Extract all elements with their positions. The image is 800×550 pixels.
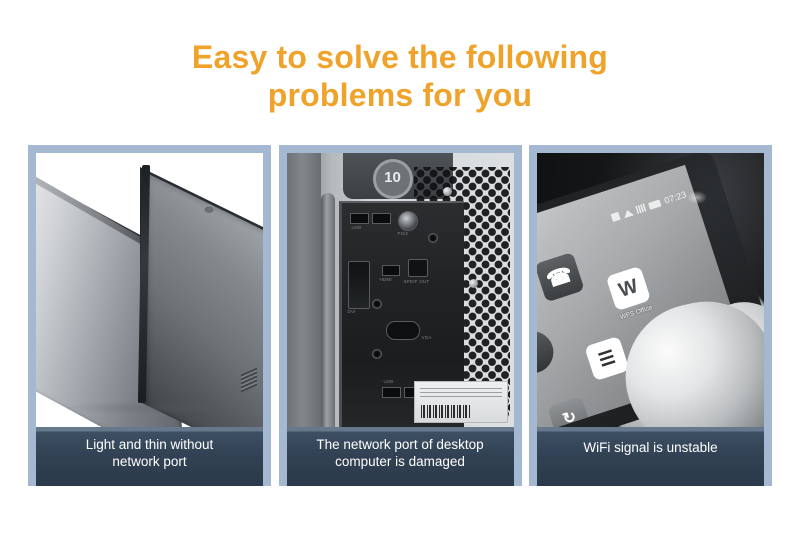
dvi-port-icon	[348, 261, 370, 309]
usb-port-label: USB	[352, 225, 362, 230]
ps2-port-label: PS/2	[398, 231, 409, 236]
card-caption-wifi: WiFi signal is unstable	[537, 427, 764, 486]
problem-card-desktop[interactable]: 10 USB PS/2 DVI HDMI SPDIF	[279, 145, 522, 486]
chassis-handle-rail	[321, 193, 335, 427]
status-bar-clock: 07:23	[663, 189, 688, 205]
hdmi-port-icon	[382, 265, 400, 276]
barcode-icon	[421, 405, 471, 418]
audio-jack-icon	[428, 233, 438, 243]
spdif-port-label: SPDIF OUT	[404, 279, 430, 284]
chassis-badge: 10	[373, 159, 413, 199]
signal-bars-icon	[636, 203, 647, 213]
desktop-photo: 10 USB PS/2 DVI HDMI SPDIF	[287, 153, 514, 427]
usb-port-icon	[372, 213, 391, 224]
app-icon-qq[interactable]: ☰	[584, 336, 629, 381]
wifi-icon	[623, 208, 635, 218]
hdmi-port-label: HDMI	[380, 277, 392, 282]
app-icon-wps-office[interactable]: W	[606, 266, 651, 311]
promo-banner: Easy to solve the following problems for…	[0, 0, 800, 550]
dvi-port-label: DVI	[348, 309, 356, 314]
app-icon-phone[interactable]: ☎	[537, 252, 585, 302]
chassis-screw	[469, 279, 478, 288]
laptop-drop-shadow	[62, 401, 242, 415]
vga-port-icon	[386, 321, 420, 340]
audio-jack-icon	[372, 299, 382, 309]
page-title-line-1: Easy to solve the following	[0, 38, 800, 76]
caption-line-1: Light and thin without	[46, 436, 253, 453]
problem-cards-row: Light and thin without network port 10 U…	[28, 145, 772, 486]
app-icon-wifi[interactable]: ◔	[537, 326, 559, 379]
caption-line-1: The network port of desktop	[297, 436, 504, 453]
laptop-camera-icon	[204, 205, 214, 213]
chassis-label-sticker	[414, 381, 508, 423]
caption-line-2: computer is damaged	[297, 453, 504, 470]
card-caption-desktop: The network port of desktop computer is …	[287, 427, 514, 486]
caption-line-1: WiFi signal is unstable	[547, 439, 754, 456]
page-title-line-2: problems for you	[0, 76, 800, 114]
page-title: Easy to solve the following problems for…	[0, 38, 800, 114]
audio-jack-icon	[372, 349, 382, 359]
vga-port-label: VGA	[422, 335, 432, 340]
chassis-screw	[443, 187, 452, 196]
battery-icon	[648, 199, 662, 209]
notification-icon	[611, 212, 621, 222]
laptop-illustration	[36, 153, 263, 427]
caption-line-2: network port	[46, 453, 253, 470]
usb-port-label: USB	[384, 379, 394, 384]
usb-port-icon	[382, 387, 401, 398]
problem-card-wifi[interactable]: 07:23 ● ☎ W WPS Office ◔ ☰ ↻ WiFi signal…	[529, 145, 772, 486]
phone-status-bar: 07:23	[570, 188, 688, 236]
lan-port-icon	[408, 259, 428, 277]
phone-glare-highlight	[687, 191, 707, 204]
usb-port-icon	[350, 213, 369, 224]
sticker-text-lines	[420, 388, 502, 400]
problem-card-laptop[interactable]: Light and thin without network port	[28, 145, 271, 486]
ps2-port-icon	[398, 211, 418, 231]
card-caption-laptop: Light and thin without network port	[36, 427, 263, 486]
laptop-photo	[36, 153, 263, 427]
chassis-left-edge	[287, 153, 321, 427]
phone-photo: 07:23 ● ☎ W WPS Office ◔ ☰ ↻	[537, 153, 764, 427]
